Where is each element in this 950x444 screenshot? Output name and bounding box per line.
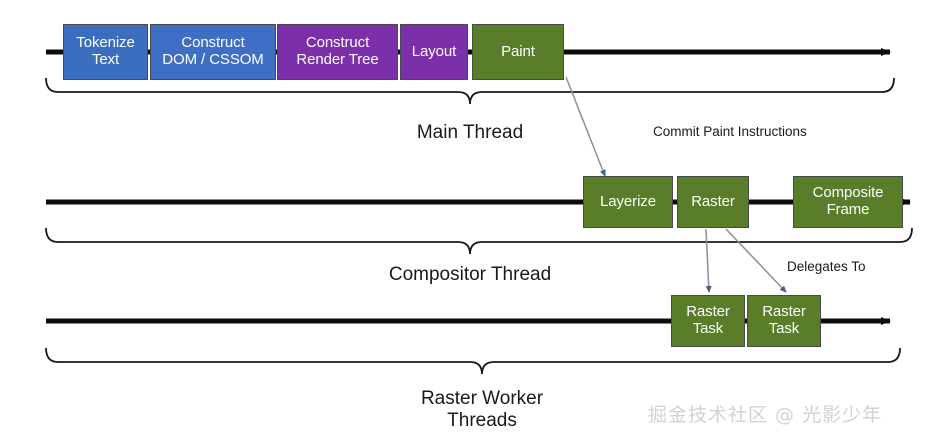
stage-box-composite-frame[interactable]: Composite Frame: [793, 176, 903, 228]
box-label-line2: Frame: [827, 202, 870, 219]
box-label-line2: Task: [769, 321, 799, 338]
thread-label-compositor-thread: Compositor Thread: [360, 264, 580, 286]
stage-box-paint[interactable]: Paint: [472, 24, 564, 80]
stage-box-layout[interactable]: Layout: [400, 24, 468, 80]
raster-worker-brace: [46, 348, 900, 374]
box-label-line1: Construct: [181, 35, 244, 52]
thread-label-raster-worker-threads: Raster Worker Threads: [382, 388, 582, 432]
box-label-line1: Layerize: [600, 194, 656, 211]
box-label-line1: Construct: [306, 35, 369, 52]
delegates-to-connector-2: [726, 229, 786, 292]
box-label-line1: Raster: [691, 194, 735, 211]
stage-box-raster[interactable]: Raster: [677, 176, 749, 228]
stage-box-construct-dom-cssom[interactable]: Construct DOM / CSSOM: [150, 24, 276, 80]
box-label-line2: Render Tree: [296, 52, 378, 69]
stage-box-layerize[interactable]: Layerize: [583, 176, 673, 228]
diagram-canvas: Tokenize Text Construct DOM / CSSOM Cons…: [0, 0, 950, 444]
annotation-commit-paint-instructions: Commit Paint Instructions: [653, 124, 807, 139]
compositor-thread-brace: [46, 228, 912, 254]
box-label-line1: Layout: [412, 44, 456, 61]
box-label-line1: Composite: [813, 185, 884, 202]
box-label-line1: Tokenize: [76, 35, 134, 52]
box-label-line2: Task: [693, 321, 723, 338]
box-label-line1: Raster: [762, 304, 806, 321]
stage-box-tokenize-text[interactable]: Tokenize Text: [63, 24, 148, 80]
delegates-to-connector-1: [706, 229, 709, 292]
thread-label-main-thread: Main Thread: [370, 122, 570, 144]
box-label-line2: DOM / CSSOM: [162, 52, 263, 69]
stage-box-construct-render-tree[interactable]: Construct Render Tree: [277, 24, 398, 80]
stage-box-raster-task-1[interactable]: Raster Task: [671, 295, 745, 347]
box-label-line2: Text: [92, 52, 119, 69]
box-label-line1: Paint: [501, 44, 535, 61]
stage-box-raster-task-2[interactable]: Raster Task: [747, 295, 821, 347]
annotation-delegates-to: Delegates To: [787, 259, 866, 274]
box-label-line1: Raster: [686, 304, 730, 321]
watermark: 掘金技术社区 @ 光影少年: [648, 400, 882, 427]
main-thread-brace: [46, 78, 894, 104]
